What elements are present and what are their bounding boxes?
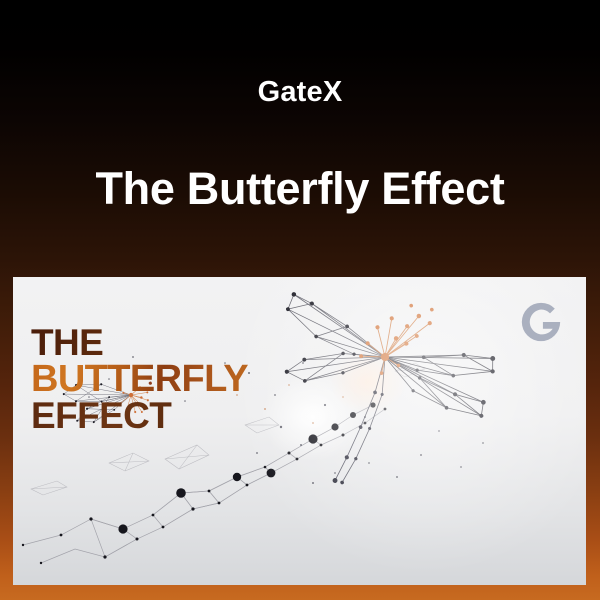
wordmark-line-the: THE: [31, 325, 248, 361]
content-card: THE BUTTERFLY EFFECT: [13, 277, 586, 585]
page-title: The Butterfly Effect: [0, 165, 600, 214]
poster-wordmark: THE BUTTERFLY EFFECT: [31, 325, 248, 434]
wordmark-line-butterfly: BUTTERFLY: [31, 361, 248, 398]
brand-title: GateX: [0, 78, 600, 107]
gatex-g-logo-icon: [518, 299, 564, 345]
slide-root: GateX The Butterfly Effect: [0, 0, 600, 600]
wordmark-line-effect: EFFECT: [31, 398, 248, 434]
